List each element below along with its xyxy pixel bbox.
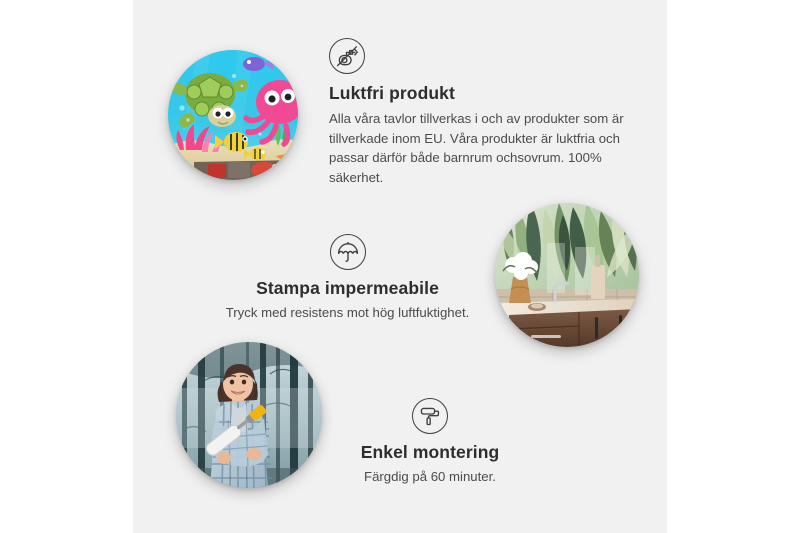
feature-assembly-body: Färgdig på 60 minuter. — [300, 467, 560, 487]
feature-odourless-body: Alla våra tavlor tillverkas i och av pro… — [329, 109, 629, 187]
feature-odourless-title: Luktfri produkt — [329, 83, 629, 104]
no-odour-spray-icon — [329, 38, 365, 74]
feature-waterproof-title: Stampa impermeabile — [205, 278, 490, 299]
feature-waterproof: Stampa impermeabile Tryck med resistens … — [205, 234, 490, 323]
feature-assembly-title: Enkel montering — [300, 442, 560, 463]
paint-roller-icon — [412, 398, 448, 434]
feature-odourless: Luktfri produkt Alla våra tavlor tillver… — [329, 38, 629, 187]
feature-waterproof-body: Tryck med resistens mot hög luftfuktighe… — [205, 303, 490, 323]
umbrella-icon — [330, 234, 366, 270]
photo-bathroom — [495, 203, 639, 347]
feature-assembly: Enkel montering Färgdig på 60 minuter. — [300, 398, 560, 487]
product-feature-infographic: Luktfri produkt Alla våra tavlor tillver… — [0, 0, 800, 533]
photo-underwater — [168, 50, 298, 180]
